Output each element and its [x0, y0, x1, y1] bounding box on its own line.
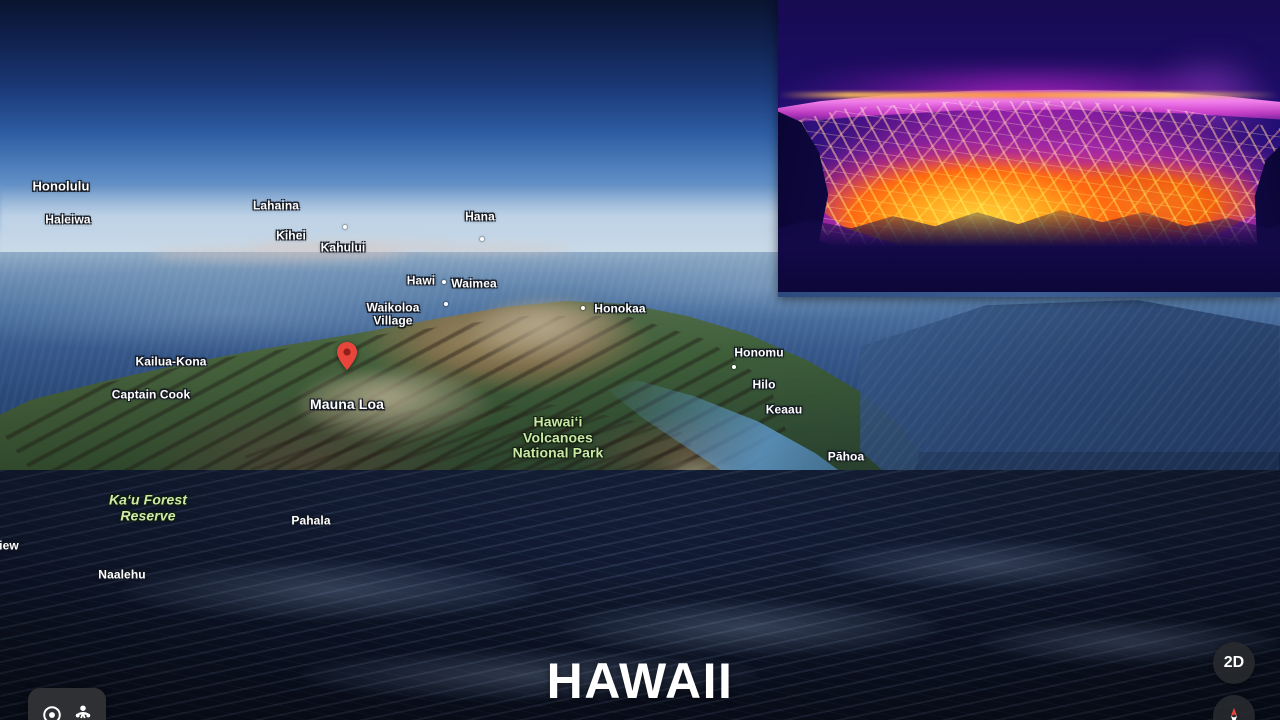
map-label-kailua-kona: Kailua-Kona	[135, 355, 206, 368]
map-label-hawai-i-volcanoes-national-park: Hawai‘iVolcanoesNational Park	[513, 414, 604, 461]
page-title: HAWAII	[547, 652, 734, 710]
map-place-dot	[732, 365, 736, 369]
map-place-dot	[343, 225, 347, 229]
map-label-iew: iew	[0, 539, 19, 552]
map-place-dot	[444, 302, 448, 306]
map-viewport[interactable]: HonoluluHaleiwaLahainaKiheiKahuluiHanaHa…	[0, 0, 1280, 720]
distant-island-haze-east	[420, 244, 570, 254]
mauna-loa-map-pin[interactable]	[337, 342, 357, 370]
map-place-dot	[442, 280, 446, 284]
thermal-lava-inset	[778, 0, 1280, 297]
map-label-honomu: Honomu	[734, 346, 783, 359]
map-label-hana: Hana	[465, 210, 495, 223]
map-label-waikoloa-village: WaikoloaVillage	[366, 302, 419, 329]
map-label-p-hoa: Pāhoa	[828, 450, 865, 463]
map-label-waimea: Waimea	[451, 277, 497, 290]
street-view-pegman-icon[interactable]	[72, 704, 94, 720]
map-label-kahului: Kahului	[321, 241, 366, 254]
map-label-captain-cook: Captain Cook	[112, 388, 191, 401]
view-mode-toggle-2d[interactable]: 2D	[1213, 642, 1255, 684]
map-label-haleiwa: Haleiwa	[45, 213, 90, 226]
map-label-mauna-loa: Mauna Loa	[310, 397, 384, 413]
map-place-dot	[581, 306, 585, 310]
thermal-inset-bottom-edge	[778, 292, 1280, 297]
map-place-dot	[480, 237, 484, 241]
map-label-honokaa: Honokaa	[594, 302, 645, 315]
map-label-hawi: Hawi	[407, 274, 435, 287]
map-controls-bar[interactable]	[28, 688, 106, 720]
map-label-naalehu: Naalehu	[98, 568, 145, 581]
map-label-ka-u-forest-reserve: Ka‘u ForestReserve	[109, 492, 187, 523]
map-label-keaau: Keaau	[766, 403, 803, 416]
map-label-kihei: Kihei	[276, 229, 306, 242]
map-label-lahaina: Lahaina	[253, 199, 299, 212]
map-label-hilo: Hilo	[752, 378, 775, 391]
map-label-honolulu: Honolulu	[32, 180, 89, 195]
map-label-pahala: Pahala	[291, 514, 330, 527]
my-location-icon[interactable]	[41, 704, 63, 720]
